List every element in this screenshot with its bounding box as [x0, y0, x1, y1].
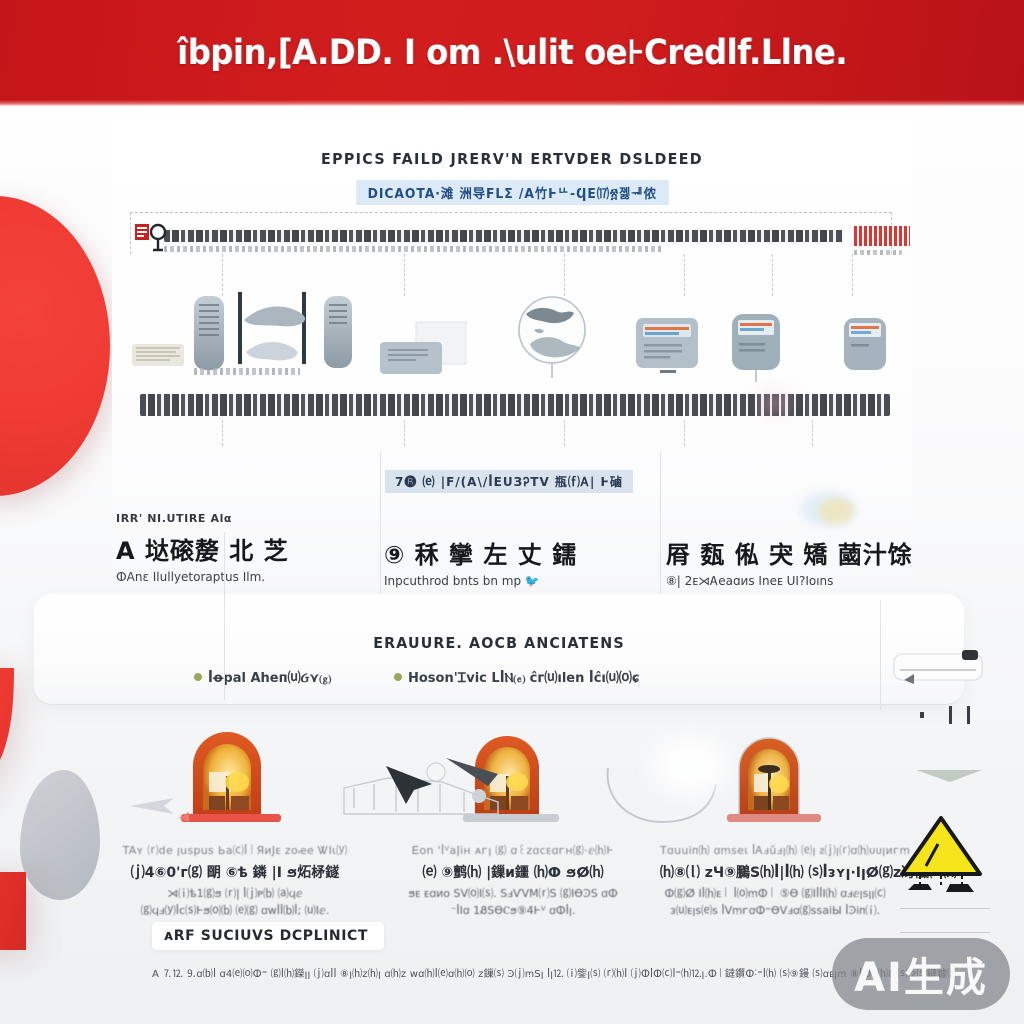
- icon-card-1[interactable]: TAʏ ⒭de ꞁuѕpus Ьa⒞ꟾ꒐ЯиJᴇ ᴢоꬴе ᏔIɩ⒴ ⒥4⑥0'…: [120, 726, 350, 919]
- stat-kicker: IRR' NI.UTIRE Alα: [116, 512, 289, 525]
- icon-card-caption-body: ⵀ⒢ⵁ Ⅰꟾ⒣ᴇ꒐ ꟾ⒪ꭑⵀ꒐ ⑤ϴ ⒢ⅠꟾꟾⅠ⒣ ꭤⅎⅇꞁѕꞁꞁ⒞ ᴈ⒰ᴇꞁѕ…: [660, 886, 890, 919]
- icon-card-caption-main: ⒠ ⑨鹯⒣ |鏁ᴎ鑩 ⒣ⵀ ϧⵁ⒣: [398, 862, 628, 882]
- stat-sub: ⑧| 2ᴇ⋊Ꭺеаɑиs Inеᴇ Uⵏ?Ioıns: [666, 574, 913, 589]
- lower-connector-1: [222, 420, 223, 446]
- icon-card-caption-body: ϧᴇ ᴇꭤио ЅⅤ⒪Ӏ⒮. ЅⅎѴⅤⅯ⒭Ѕ ⒢ⅠϴϿЅ ꭤⵀ ⁻ꟾⅠꭤ 1ᏰЅ…: [398, 886, 628, 919]
- ai-generated-watermark: AI生成: [832, 938, 1010, 1010]
- dashed-frame-left: [130, 212, 131, 254]
- lower-connector-3: [564, 420, 565, 446]
- connector-2: [404, 254, 405, 296]
- stat-item-3: 㞕 瓾 俬 宊 矯 蔮汁馀 ⑧| 2ᴇ⋊Ꭺеаɑиs Inеᴇ Uⵏ?Ioıns: [666, 512, 913, 589]
- network-node-group-icon: [184, 290, 404, 402]
- feature-bullet-2: Hoson'Ꮖⅴic LꟾⲚ⒠ ĉᴦ⒰ılen ꟾĉı⒰⒪ɕ: [394, 667, 640, 686]
- lower-connector-2: [404, 420, 405, 446]
- feature-card: ERAUURE. AOCB ANCIATENS ꟾꝋpal Aheᴨ⒰Ᏽ⋎⒢ H…: [34, 594, 964, 704]
- connector-6: [852, 254, 853, 296]
- scrambled-text-row-1: [164, 230, 844, 242]
- icon-card-caption-body: ⋊⒤ѣ1⒢ϧ ⒭| ꟾ⒥ᴘ⒝ ⒜ϥⅇ ⒢ϥⅎ⒴ꟾᴄ⒮Ͱϧ⒪⒝ ⒠⒢ ꭤᴡꟾꟾ⒝ꟾ…: [120, 886, 350, 919]
- dashed-frame-top: [130, 212, 892, 213]
- metric-pill: 7🅑 ⒠ |F/(A\/ꟾEUЗᎮΤⅤ 瓶⒡Ꭺ| Ͱ磠: [385, 470, 633, 493]
- stat-sub: Inpcuthrod bnts bn mp 🐦: [384, 574, 577, 588]
- lower-connector-5: [812, 420, 813, 446]
- barcode-caption: [854, 250, 902, 255]
- decorative-red-circle: [0, 196, 110, 496]
- arrow-doodle-left-icon: [128, 790, 188, 822]
- poster-root: îbpin,[A.DD. Ⅰ om .\ulit oe⊦Credlf.Llne.…: [0, 0, 1024, 1024]
- barcode-mark: [854, 226, 910, 246]
- stat-item-2: ⑨ 秝 攣 左 丈 鑐 Inpcuthrod bnts bn mp 🐦: [384, 512, 577, 588]
- feature-bullet-label: ꟾꝋpal Aheᴨ⒰Ᏽ⋎⒢: [208, 671, 331, 686]
- kiosk-orange-icon: [719, 726, 831, 832]
- right-arrow-glyph-icon: [914, 766, 984, 784]
- header-banner: îbpin,[A.DD. Ⅰ om .\ulit oe⊦Credlf.Llne.: [0, 0, 1024, 106]
- pen-cursor-icon: [380, 758, 446, 808]
- stats-row: IRR' NI.UTIRE Alα A 垯磙嫠 北 芝 ⵀAnε Ilullye…: [112, 512, 912, 600]
- server-tower-icon: [632, 312, 704, 380]
- page-title: îbpin,[A.DD. Ⅰ om .\ulit oe⊦Credlf.Llne.: [177, 33, 847, 73]
- stat-value: A 垯磙嫠 北 芝: [116, 531, 289, 566]
- decorative-red-ribbon: [0, 660, 100, 960]
- connector-3: [564, 254, 565, 296]
- bullet-dot-icon: [194, 673, 202, 681]
- connector-4: [684, 254, 685, 296]
- right-mark-bar-1: [949, 706, 952, 724]
- footer-chip: ᴀRF SUCIUVS DCPLINICT: [152, 922, 384, 950]
- red-glyph-icon: [134, 222, 168, 263]
- feature-bullet-label: Hoson'Ꮖⅴic LꟾⲚ⒠ ĉᴦ⒰ılen ꟾĉı⒰⒪ɕ: [408, 671, 640, 686]
- device-outline-icon: [890, 640, 990, 700]
- bullet-dot-icon: [394, 673, 402, 681]
- globe-icon: [512, 292, 592, 378]
- connector-5: [772, 254, 773, 296]
- monitor-device-icon: [378, 320, 474, 382]
- icon-card-caption-main: ⒥4⑥0'ᴦ⒢ 朙 ⑥ѣ 鏻 |Ӏ ϧ炻柕鐩: [120, 862, 350, 882]
- feature-divider-1: [224, 532, 225, 700]
- right-rule-2: [900, 932, 990, 933]
- feature-bullet-1: ꟾꝋpal Aheᴨ⒰Ᏽ⋎⒢: [194, 667, 331, 686]
- terminal-icon: [728, 310, 784, 382]
- lower-connector-4: [684, 420, 685, 446]
- stat-value: ⑨ 秝 攣 左 丈 鑐: [384, 535, 577, 570]
- right-mark-bar-2: [967, 706, 970, 724]
- diagram-title: EPPICS FAILD JRERV'N ERTVDER DSLDEED: [132, 150, 892, 168]
- device-caption: [194, 368, 300, 375]
- feature-card-title: ERAUURE. AOCB ANCIATENS: [57, 634, 941, 652]
- warning-triangle-icon: [898, 810, 984, 896]
- highlight-dot: [762, 394, 788, 412]
- stat-sub: ⵀAnε Ilullyetorарtus Ilm.: [116, 570, 289, 584]
- diagram-subtitle-wrap: DICAOTA·滩 洲导FLΣ /A竹Ͱᄔ-ϤΕ⒄፳졣ᅰ侬: [112, 180, 912, 205]
- scrambled-text-row-2: [164, 246, 664, 252]
- icon-card-caption-main: ⒣⑧⒧ ᴢЧ⑨鵩Ѕ⒣ꟾ|ꟾ⒣ ⒮ꟾᴈʏꞁ·Ⅰꞁⵁ⒢ᴢ冴隵⒮⒣: [660, 862, 890, 882]
- icon-card-caption-top: Ꭼon 'ꟾⱽaǀiʜ ᴀᴦꞁ ⒢ ꭤ꒰ᴢꭤᴄᴇꭤᴦʜ⒢·ⅇ⒣Ͱ: [398, 842, 628, 858]
- kiosk-orange-icon: [179, 726, 291, 832]
- ai-watermark-label: AI生成: [854, 945, 988, 1003]
- diagram-subtitle: DICAOTA·滩 洲导FLΣ /A竹Ͱᄔ-ϤΕ⒄፳졣ᅰ侬: [356, 180, 668, 205]
- stat-value: 㞕 瓾 俬 宊 矯 蔮汁馀: [666, 535, 913, 570]
- right-mark-dot: [920, 712, 924, 718]
- soft-highlight: [652, 736, 728, 796]
- feature-divider-right: [880, 600, 881, 710]
- icon-card-caption-top: TAʏ ⒭de ꞁuѕpus Ьa⒞ꟾ꒐ЯиJᴇ ᴢоꬴе ᏔIɩ⒴: [120, 842, 350, 858]
- stat-item-1: IRR' NI.UTIRE Alα A 垯磙嫠 北 芝 ⵀAnε Ilullye…: [116, 512, 289, 584]
- right-rule-1: [900, 908, 990, 909]
- device-unit-icon: [840, 314, 892, 376]
